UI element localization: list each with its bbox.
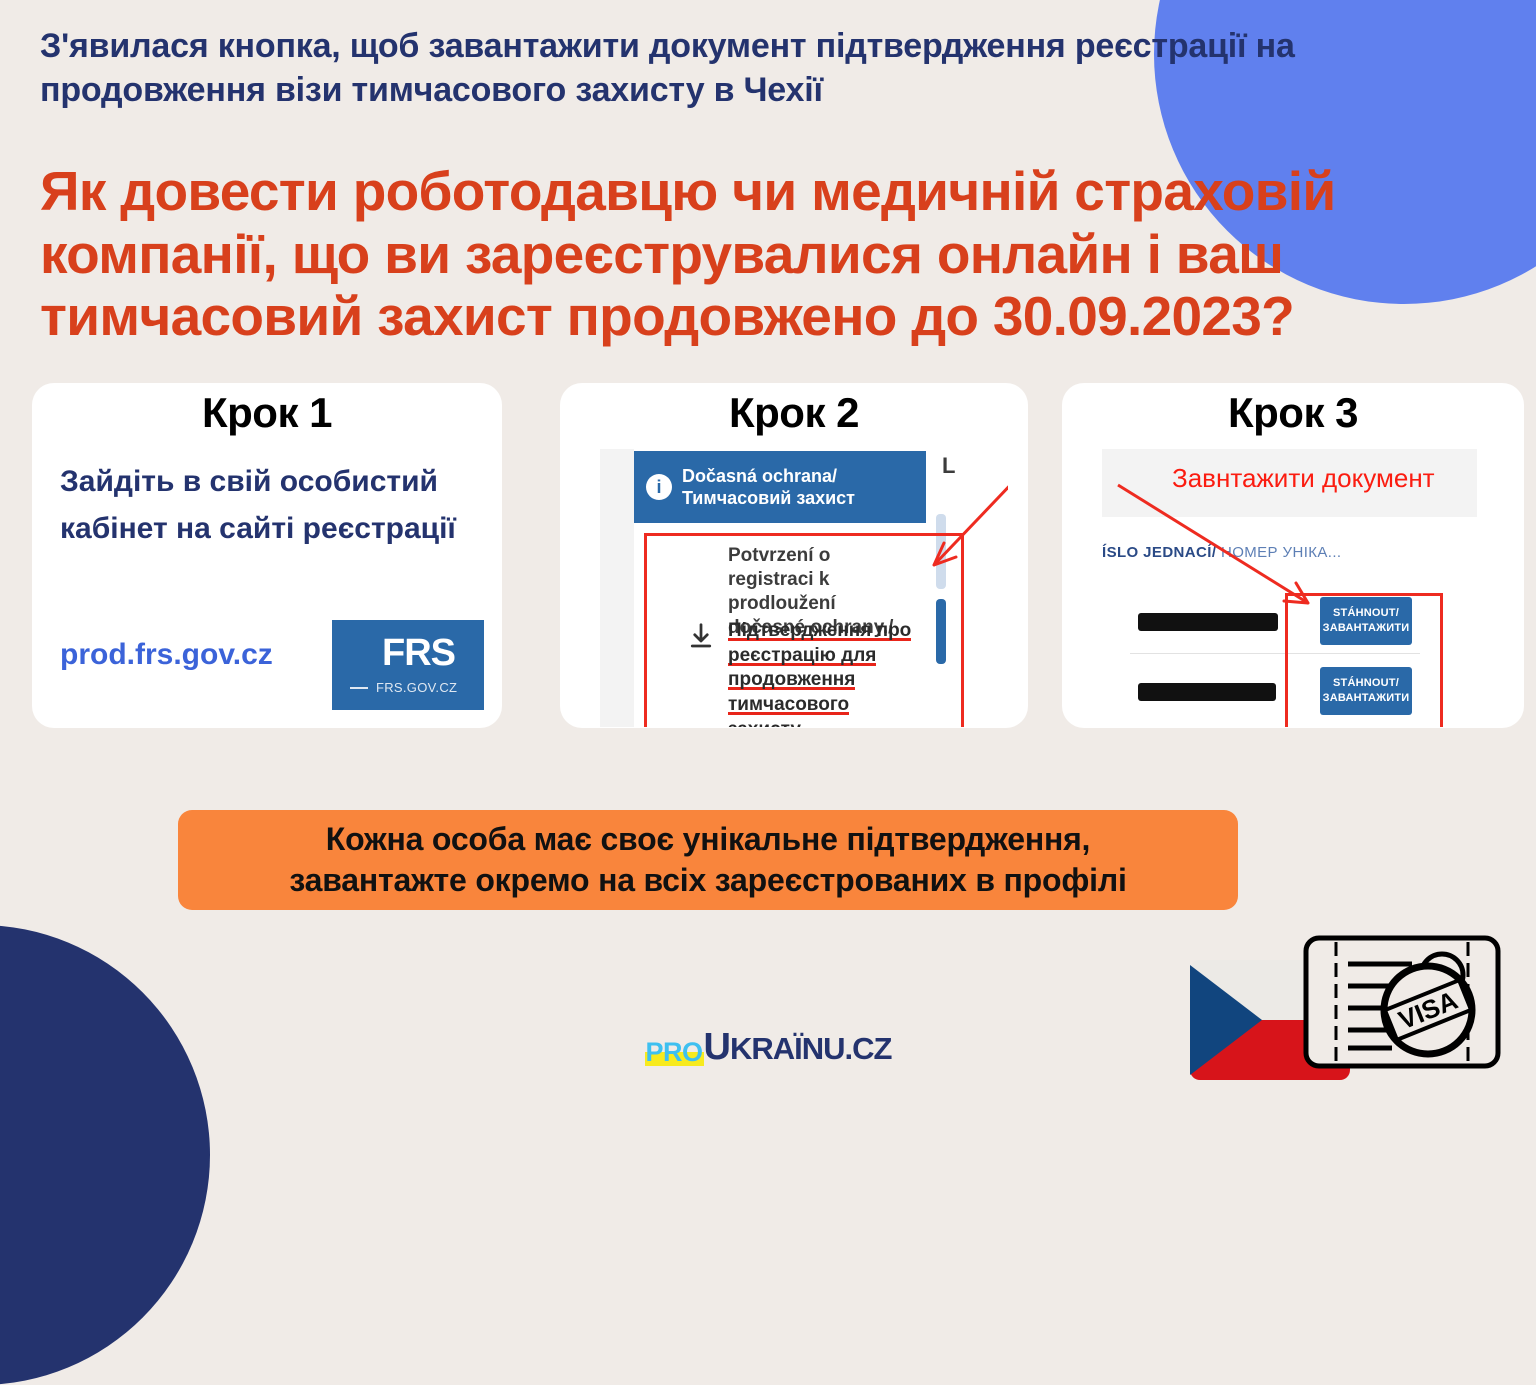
notice-line-1: Кожна особа має своє унікальне підтвердж… <box>326 821 1091 857</box>
annotation-arrow <box>1112 479 1332 619</box>
step-card-3: Крок 3 Завнтажити документ ÍSLO JEDNACÍ/… <box>1062 383 1524 728</box>
decorative-circle-bottom-left <box>0 925 210 1385</box>
download-button-label-cz: STÁHNOUT/ <box>1333 676 1399 691</box>
table-row-divider <box>1130 653 1420 654</box>
logo-rest-text: KRAÏNU.CZ <box>730 1031 892 1066</box>
download-button-label-ua: ЗАВАНТАЖИТИ <box>1323 691 1410 706</box>
logo-pro-block: PRO <box>645 1039 704 1066</box>
step-3-screenshot: Завнтажити документ ÍSLO JEDNACÍ/ НОМЕР … <box>1102 449 1502 727</box>
page-title: Як довести роботодавцю чи медичній страх… <box>40 160 1500 348</box>
step-2-title: Крок 2 <box>560 383 1028 437</box>
step-2-screenshot: i Dočasná ochrana/ Тимчасовий захист L P… <box>600 449 1008 727</box>
site-logo[interactable]: PRO UKRAÏNU.CZ <box>0 1028 1536 1066</box>
banner-label: Dočasná ochrana/ Тимчасовий захист <box>682 465 926 510</box>
download-button[interactable]: STÁHNOUT/ ЗАВАНТАЖИТИ <box>1320 597 1412 645</box>
download-button-label-ua: ЗАВАНТАЖИТИ <box>1323 621 1410 636</box>
kicker-text: З'явилася кнопка, щоб завантажити докуме… <box>40 24 1350 112</box>
frs-logo-subtitle: FRS.GOV.CZ <box>376 680 457 695</box>
screenshot-left-gutter <box>600 449 634 727</box>
notice-banner: Кожна особа має своє унікальне підтвердж… <box>178 810 1238 910</box>
frs-logo-mark: FRS <box>382 634 455 672</box>
document-label-ukrainian-text: Підтвердження про реєстрацію для продовж… <box>728 620 911 727</box>
download-button-label-cz: STÁHNOUT/ <box>1333 606 1399 621</box>
annotation-arrow <box>900 469 1008 609</box>
download-button[interactable]: STÁHNOUT/ ЗАВАНТАЖИТИ <box>1320 667 1412 715</box>
temporary-protection-banner: i Dočasná ochrana/ Тимчасовий захист <box>634 451 926 523</box>
step-card-2: Крок 2 i Dočasná ochrana/ Тимчасовий зах… <box>560 383 1028 728</box>
step-card-1: Крок 1 Зайдіть в свій особистий кабінет … <box>32 383 502 728</box>
logo-pro-text: PRO <box>645 1037 704 1069</box>
logo-ukrainu-text: UKRAÏNU.CZ <box>704 1028 892 1066</box>
step-1-body-text: Зайдіть в свій особистий кабінет на сайт… <box>60 459 480 552</box>
step-3-title: Крок 3 <box>1062 383 1524 437</box>
step-1-url-link[interactable]: prod.frs.gov.cz <box>60 638 273 672</box>
frs-logo-dash <box>350 687 368 689</box>
frs-logo: FRS FRS.GOV.CZ <box>332 620 484 710</box>
info-icon: i <box>646 474 672 500</box>
logo-u-letter: U <box>704 1026 730 1068</box>
download-icon[interactable] <box>686 621 716 651</box>
redacted-value <box>1138 683 1276 701</box>
notice-line-2: завантажте окремо на всіх зареєстрованих… <box>289 862 1126 898</box>
step-1-title: Крок 1 <box>32 383 502 437</box>
document-label-ukrainian: Підтвердження про реєстрацію для продовж… <box>728 619 928 727</box>
